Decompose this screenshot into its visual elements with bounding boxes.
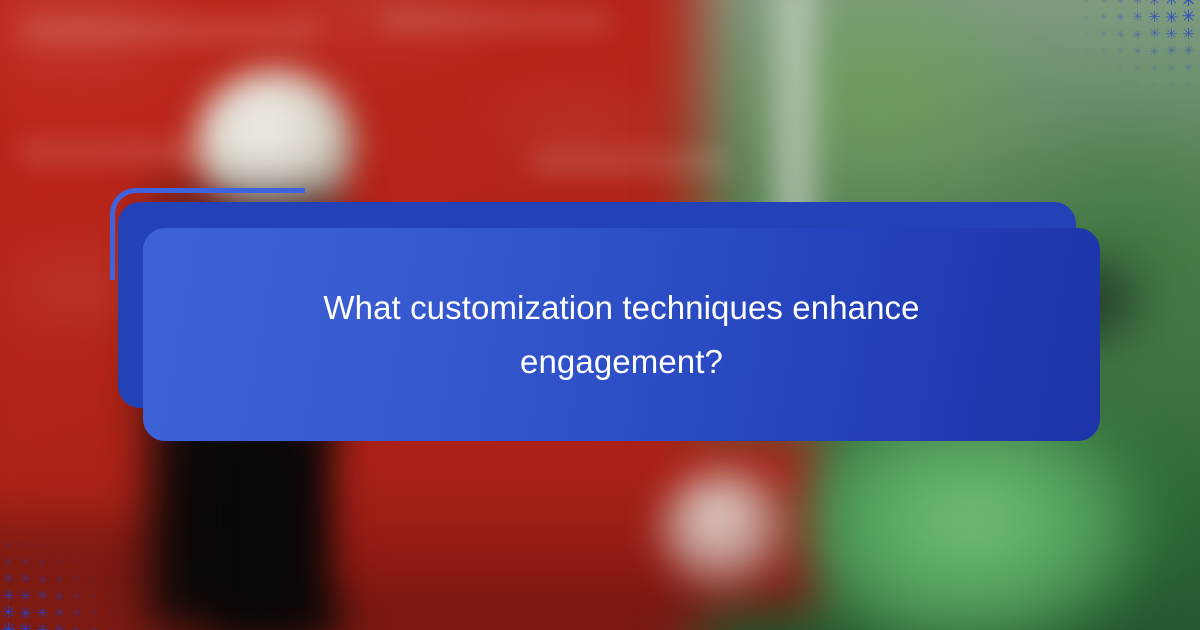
background-banner-text-band [380,10,610,32]
screenshot-stage: ✳✳✳✳✳✳✳✳✳✳✳✳✳✳✳✳✳✳✳✳✳✳✳✳✳✳✳✳✳✳✳✳✳✳✳✳✳✳✳✳… [0,0,1200,630]
background-banner-text-band [20,140,200,164]
question-text: What customization techniques enhance en… [242,281,1002,388]
background-banner-text-band [20,18,320,44]
background-dark-figure-legs [210,420,330,630]
question-card[interactable]: What customization techniques enhance en… [143,228,1100,441]
background-banner-text-band [530,150,730,174]
